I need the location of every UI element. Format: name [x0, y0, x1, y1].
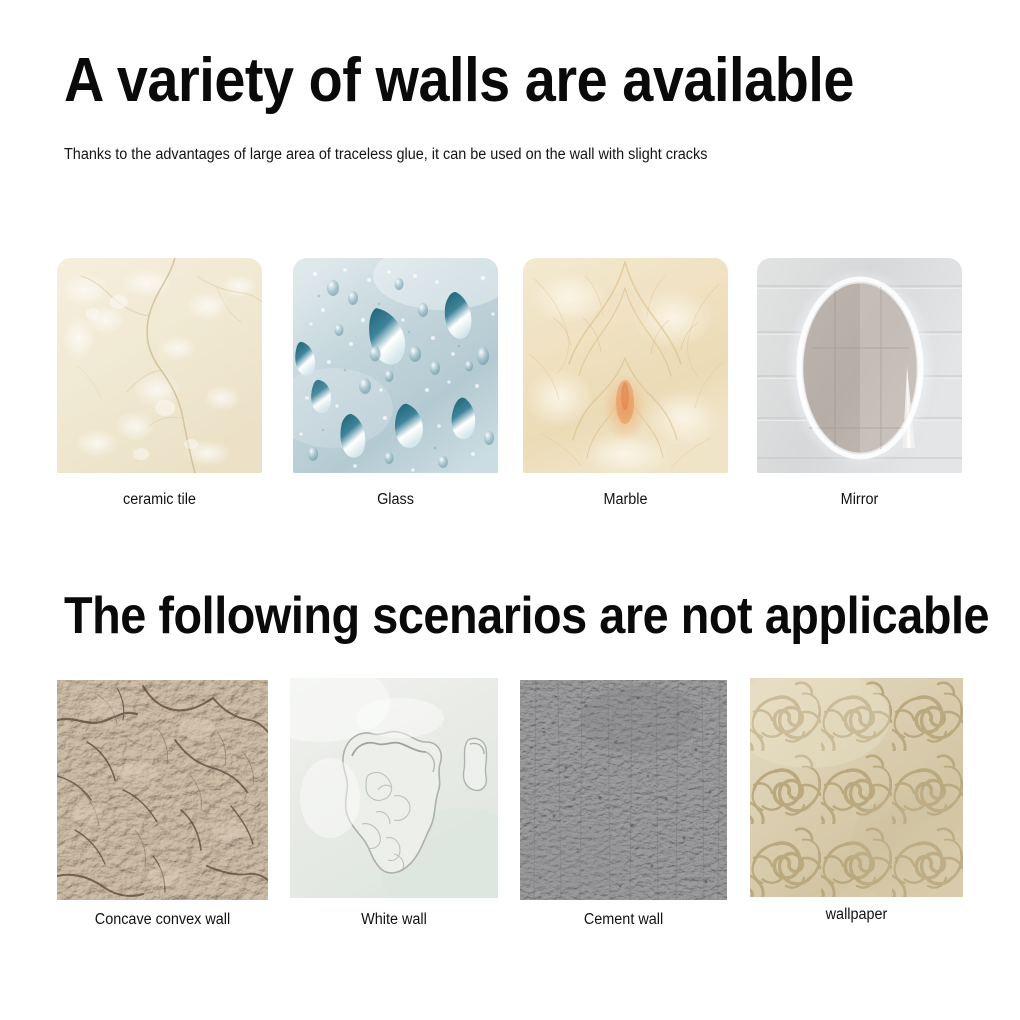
sample-image-marble — [523, 258, 728, 473]
sample-image-wallpaper — [750, 678, 963, 897]
sample-caption-marble: Marble — [530, 490, 721, 510]
sample-image-mirror — [757, 258, 962, 473]
sample-image-concave-convex-wall — [57, 680, 268, 900]
sample-image-glass — [293, 258, 498, 473]
section-subtitle-available: Thanks to the advantages of large area o… — [64, 144, 707, 166]
sample-caption-wallpaper: wallpaper — [757, 905, 955, 925]
sample-caption-white-wall: White wall — [297, 910, 490, 930]
sample-caption-cement-wall: Cement wall — [527, 910, 720, 930]
sample-caption-mirror: Mirror — [764, 490, 955, 510]
sample-caption-concave-convex-wall: Concave convex wall — [64, 910, 260, 930]
sample-image-white-wall — [290, 678, 498, 898]
section-title-not-applicable: The following scenarios are not applicab… — [64, 585, 989, 647]
sample-image-cement-wall — [520, 680, 727, 900]
sample-image-ceramic-tile — [57, 258, 262, 473]
infographic-page: A variety of walls are available Thanks … — [0, 0, 1020, 1020]
sample-caption-ceramic-tile: ceramic tile — [64, 490, 255, 510]
sample-caption-glass: Glass — [300, 490, 491, 510]
section-title-available: A variety of walls are available — [64, 44, 854, 118]
